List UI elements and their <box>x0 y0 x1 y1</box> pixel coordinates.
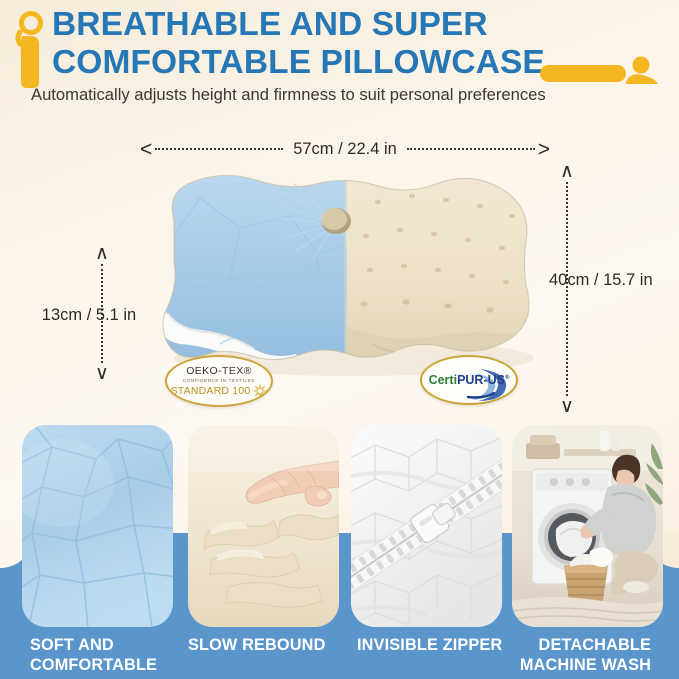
dimension-chevron-up-left: ∧ <box>95 246 109 261</box>
feature-label-line-1: SOFT AND <box>30 635 157 655</box>
feature-label-list: SOFT AND COMFORTABLE SLOW REBOUND INVISI… <box>0 627 679 679</box>
feature-card-list <box>0 408 679 627</box>
oeko-tex-badge-line-3: STANDARD 100 <box>171 385 251 397</box>
features-section: SOFT AND COMFORTABLE SLOW REBOUND INVISI… <box>0 408 679 679</box>
feature-label-line-1: INVISIBLE ZIPPER <box>357 635 502 655</box>
dimension-line-left <box>155 148 283 150</box>
certipur-text-green: Certi <box>429 373 457 387</box>
feature-label-invisible-zipper: INVISIBLE ZIPPER <box>357 635 502 655</box>
feature-card-slow-rebound[interactable] <box>188 425 339 627</box>
certipur-us-badge-text: CertiPUR-US® <box>429 373 510 387</box>
header-banner: BREATHABLE AND SUPER COMFORTABLE PILLOWC… <box>0 0 679 118</box>
soft-fabric-image <box>22 425 173 627</box>
header-title-line-1: BREATHABLE AND SUPER <box>52 6 652 44</box>
dimension-chevron-down-left: ∨ <box>95 366 109 381</box>
oeko-tex-badge-line-1: OEKO-TEX® <box>186 365 252 377</box>
hand-pressing-foam-image <box>188 425 339 627</box>
feature-card-invisible-zipper[interactable] <box>351 425 502 627</box>
person-standing-icon <box>14 10 48 90</box>
feature-label-detachable-machine-wash: DETACHABLE MACHINE WASH <box>520 635 651 675</box>
machine-wash-image <box>512 425 663 627</box>
feature-label-line-1: DETACHABLE <box>520 635 651 655</box>
product-hero-section: < 57cm / 22.4 in > <box>0 118 679 408</box>
oeko-tex-badge: OEKO-TEX® CONFIDENCE IN TEXTILES STANDAR… <box>165 355 273 407</box>
person-lying-on-pillow-icon <box>538 55 660 89</box>
oeko-sunburst-icon <box>253 384 267 398</box>
oeko-tex-badge-line-2: CONFIDENCE IN TEXTILES <box>183 378 255 383</box>
dimension-line-right <box>407 148 535 150</box>
certipur-trademark: ® <box>505 375 509 381</box>
dimension-arrow-right: > <box>538 139 550 160</box>
invisible-zipper-image <box>351 425 502 627</box>
certipur-us-badge: CertiPUR-US® <box>420 355 518 405</box>
feature-label-slow-rebound: SLOW REBOUND <box>188 635 325 655</box>
dimension-chevron-up-right: ∧ <box>560 164 574 179</box>
feature-label-soft-and-comfortable: SOFT AND COMFORTABLE <box>30 635 157 675</box>
feature-label-line-2: COMFORTABLE <box>30 655 157 675</box>
dimension-depth-right-label: 40cm / 15.7 in <box>546 269 656 292</box>
dimension-arrow-left: < <box>140 139 152 160</box>
feature-label-line-2: MACHINE WASH <box>520 655 651 675</box>
dimension-height-left-label: 13cm / 5.1 in <box>24 306 154 325</box>
feature-card-detachable-machine-wash[interactable] <box>512 425 663 627</box>
dimension-width-label: 57cm / 22.4 in <box>286 140 404 159</box>
feature-card-soft-and-comfortable[interactable] <box>22 425 173 627</box>
feature-label-line-1: SLOW REBOUND <box>188 635 325 655</box>
header-subtitle: Automatically adjusts height and firmnes… <box>31 85 651 105</box>
certipur-text-blue: PUR-US <box>457 373 505 387</box>
pillow-product-image <box>140 158 560 383</box>
